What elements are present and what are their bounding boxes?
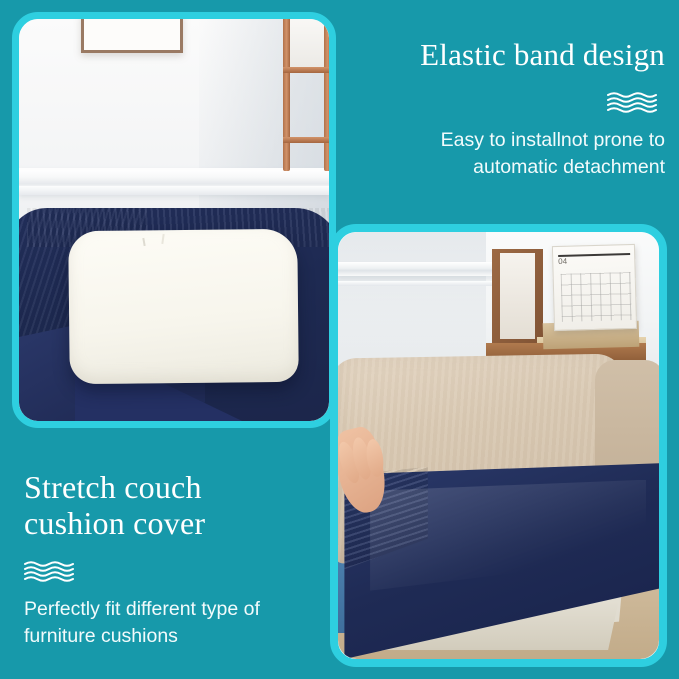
photo-hand-stretching-cover-inner: 04 (338, 232, 659, 659)
calendar-date-grid (560, 272, 631, 322)
feature-block-elastic-band: Elastic band design Easy to installnot p… (365, 38, 665, 182)
desk-calendar: 04 (552, 244, 638, 332)
shelf-rung-lower (283, 137, 329, 143)
white-cushion (68, 229, 299, 384)
shelf-post-right (324, 19, 329, 171)
photo-navy-cushion-cover (12, 12, 336, 428)
calendar-header-rule (558, 253, 630, 257)
subtext-stretch-cover: Perfectly fit different type of furnitur… (24, 596, 324, 651)
subtext-elastic-band: Easy to installnot prone to automatic de… (365, 127, 665, 182)
baseboard-molding-lower (19, 186, 329, 195)
headline-elastic-band: Elastic band design (365, 38, 665, 73)
wall-picture-frame (81, 19, 183, 53)
feature-block-stretch-cover: Stretch couch cushion cover Perfectly fi… (24, 470, 324, 651)
shelf-inner-panel (500, 253, 535, 338)
photo-hand-stretching-cover: 04 (330, 224, 667, 667)
infographic-canvas: 04 Elastic band design (0, 0, 679, 679)
wave-divider-icon (24, 560, 82, 582)
shelf-post-left (283, 19, 290, 171)
photo-navy-cushion-cover-inner (19, 19, 329, 421)
shelf-rung-upper (283, 67, 329, 73)
wave-divider-icon (607, 91, 665, 113)
headline-stretch-cover: Stretch couch cushion cover (24, 470, 324, 542)
calendar-month-number: 04 (558, 257, 567, 266)
shelf-panel (290, 19, 324, 67)
wooden-shelf (281, 19, 329, 171)
